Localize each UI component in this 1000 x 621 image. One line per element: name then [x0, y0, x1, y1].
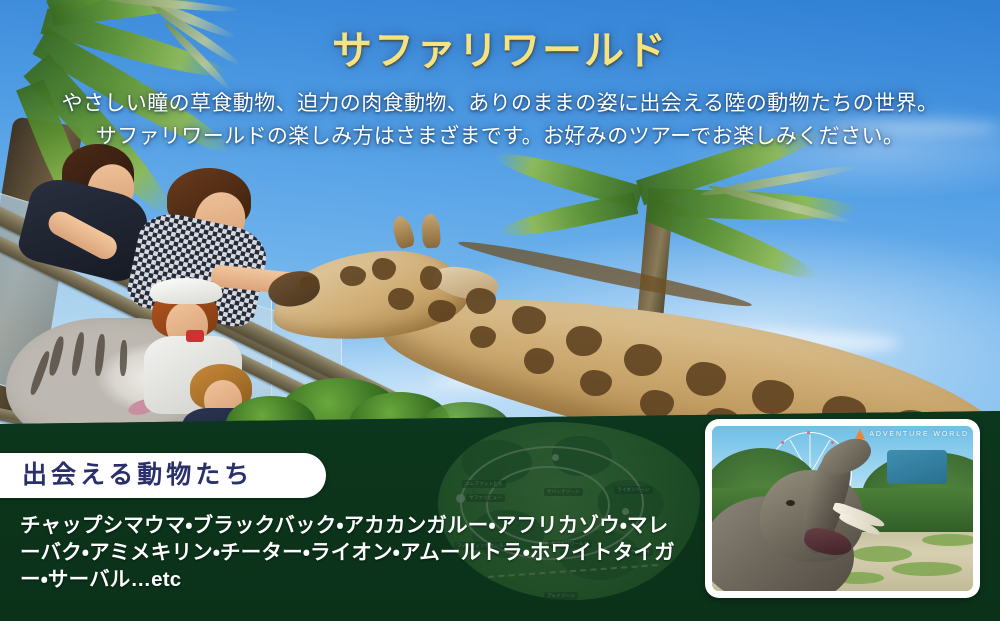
page-title: サファリワールド	[0, 28, 1000, 74]
watermark-text: ADVENTURE WORLD	[869, 431, 969, 438]
photo-hillside	[887, 450, 947, 484]
headline-block: サファリワールド やさしい瞳の草食動物、迫力の肉食動物、ありのままの姿に出会える…	[0, 28, 1000, 153]
elephant-eye	[786, 500, 795, 506]
map-label: プレイゾーン	[544, 592, 578, 600]
safari-world-banner: サファリワールド やさしい瞳の草食動物、迫力の肉食動物、ありのままの姿に出会える…	[0, 0, 1000, 621]
map-marker-icon	[552, 454, 559, 461]
animals-section-heading-pill: 出会える動物たち	[0, 453, 326, 498]
photo-watermark: ADVENTURE WORLD	[855, 429, 969, 439]
page-subtitle: やさしい瞳の草食動物、迫力の肉食動物、ありのままの姿に出会える陸の動物たちの世界…	[0, 88, 1000, 153]
photo-grass-patch	[892, 562, 962, 576]
photo-grass-patch	[852, 546, 912, 562]
map-marker-icon	[456, 494, 465, 503]
map-label: サバンナゾーン	[544, 488, 583, 496]
triangle-logo-icon	[855, 429, 865, 439]
elephant-photo-card: ADVENTURE WORLD	[705, 419, 980, 598]
map-label: エレファントたち	[462, 480, 506, 488]
ferris-cabin	[831, 441, 834, 444]
ferris-cabin	[807, 431, 810, 434]
animals-section-heading-label: 出会える動物たち	[22, 463, 253, 488]
subtitle-line-2: サファリワールドの楽しみ方はさまざまです。お好みのツアーでお楽しみください。	[0, 121, 1000, 154]
animal-list-text: チャップシマウマ・ブラックバック・アカカンガルー・アフリカゾウ・マレーバク・アミ…	[20, 512, 680, 593]
map-label: サファリビュー	[466, 494, 505, 502]
visitor-hat	[150, 278, 222, 304]
ferris-cabin	[781, 441, 784, 444]
visitor-phone	[186, 330, 204, 342]
elephant-photo: ADVENTURE WORLD	[712, 426, 973, 591]
map-label: ライオンゾーン	[614, 486, 653, 494]
subtitle-line-1: やさしい瞳の草食動物、迫力の肉食動物、ありのままの姿に出会える陸の動物たちの世界…	[0, 88, 1000, 121]
photo-grass-patch	[922, 534, 973, 546]
